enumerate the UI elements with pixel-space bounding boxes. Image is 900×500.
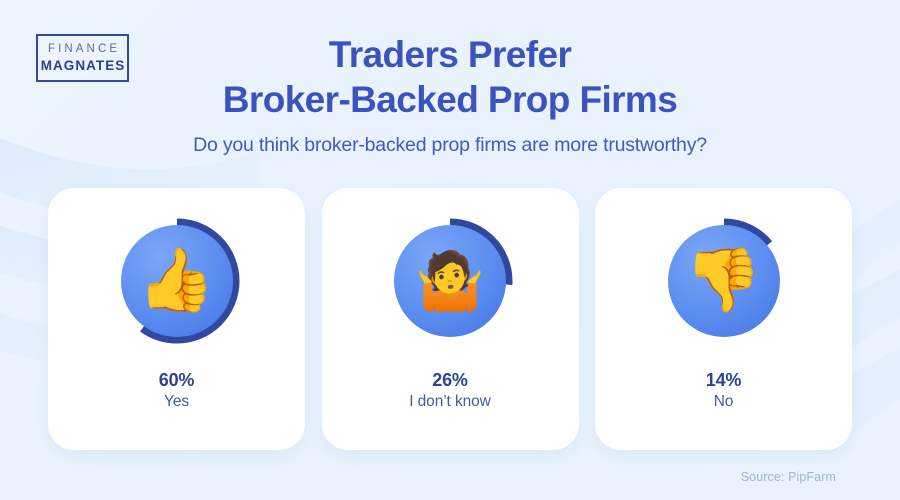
- stat-label: Yes: [48, 392, 305, 412]
- stat-card[interactable]: 🤷 26% I don’t know: [322, 188, 579, 450]
- page-title-line-2: Broker-Backed Prop Firms: [0, 77, 900, 122]
- stat-percent: 14%: [595, 369, 852, 391]
- donut-dial: 👎: [659, 216, 789, 346]
- thumbs-down-emoji: 👎: [659, 216, 789, 346]
- stat-card[interactable]: 👍 60% Yes: [48, 188, 305, 450]
- source-attribution: Source: PipFarm: [741, 470, 836, 484]
- shrug-emoji: 🤷: [385, 216, 515, 346]
- stat-readout: 60% Yes: [48, 369, 305, 412]
- donut-dial: 🤷: [385, 216, 515, 346]
- donut-dial: 👍: [112, 216, 242, 346]
- page-title: Traders Prefer Broker-Backed Prop Firms: [0, 32, 900, 122]
- stat-label: I don’t know: [322, 392, 579, 412]
- stat-label: No: [595, 392, 852, 412]
- stat-card[interactable]: 👎 14% No: [595, 188, 852, 450]
- stat-readout: 14% No: [595, 369, 852, 412]
- page-title-line-1: Traders Prefer: [0, 32, 900, 77]
- page-subtitle: Do you think broker-backed prop firms ar…: [0, 134, 900, 157]
- stat-readout: 26% I don’t know: [322, 369, 579, 412]
- stat-percent: 26%: [322, 369, 579, 391]
- thumbs-up-emoji: 👍: [112, 216, 242, 346]
- stat-percent: 60%: [48, 369, 305, 391]
- infographic-canvas: FINANCE MAGNATES Traders Prefer Broker-B…: [0, 0, 900, 500]
- stat-card-group: 👍 60% Yes: [48, 188, 852, 450]
